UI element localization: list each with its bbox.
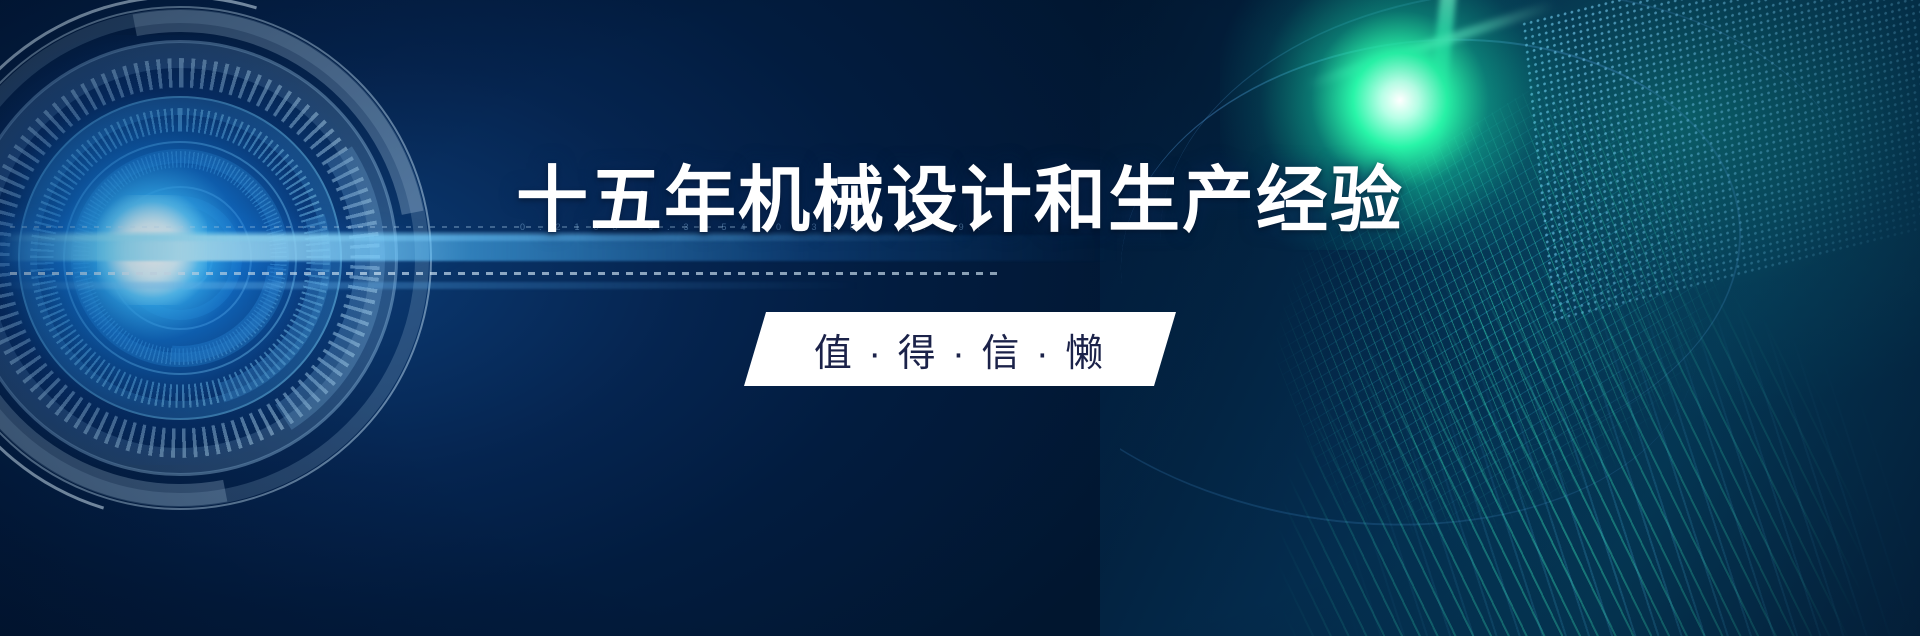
circuit-tech-graphic <box>1120 0 1920 636</box>
hero-banner: 0.2103 0.3254 0.3568 0.3986 十五年机械设计和生产经验… <box>0 0 1920 636</box>
light-streak-secondary <box>0 282 860 289</box>
slogan-text: 值 · 得 · 信 · 懒 <box>744 312 1176 386</box>
dotted-guide-line <box>10 272 1000 275</box>
slogan-badge: 值 · 得 · 信 · 懒 <box>744 312 1176 386</box>
banner-headline: 十五年机械设计和生产经验 <box>0 165 1920 237</box>
